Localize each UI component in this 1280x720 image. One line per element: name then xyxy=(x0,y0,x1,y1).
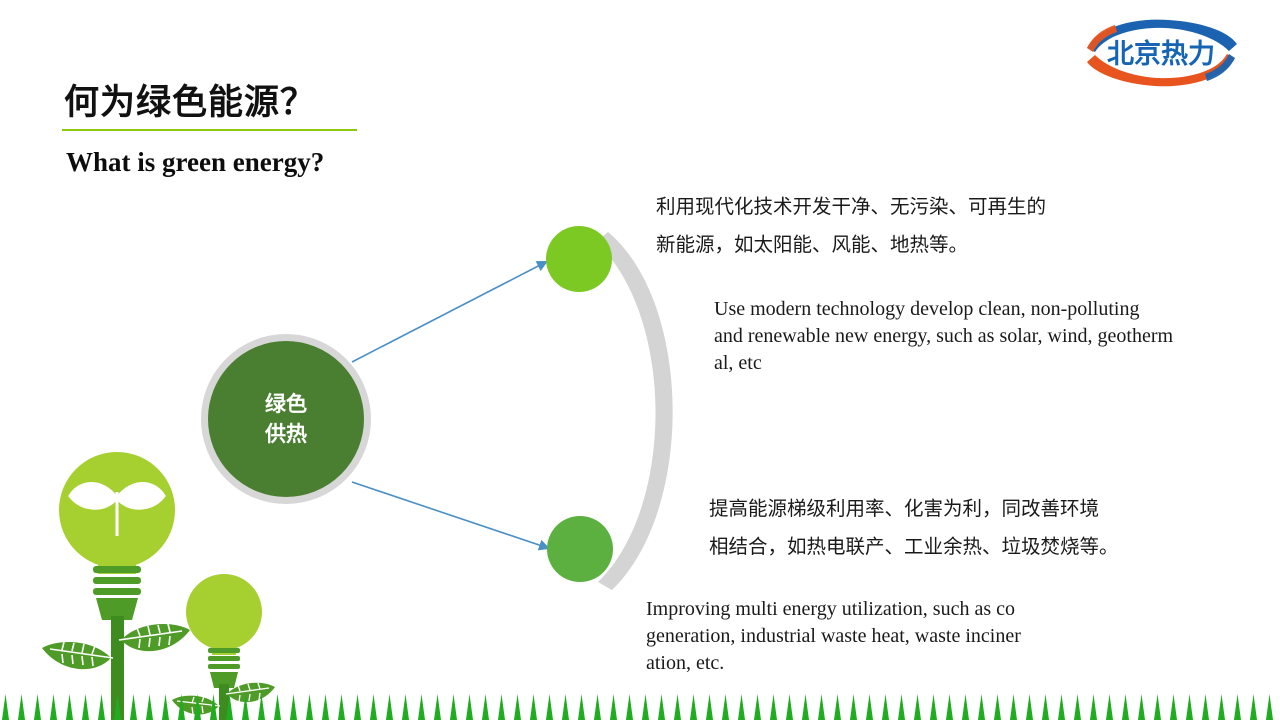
bulb-plant-illustration xyxy=(20,440,320,720)
page-title-en: What is green energy? xyxy=(66,147,324,178)
small-bulb-icon xyxy=(186,574,262,688)
arrow-to-node-top xyxy=(352,262,546,362)
logo-svg: 北京热力 xyxy=(1077,18,1245,88)
grass-strip xyxy=(0,688,1280,720)
branch-node-bottom[interactable] xyxy=(547,516,613,582)
branch-2-text-en: Improving multi energy utilization, such… xyxy=(646,596,1166,677)
beijing-thermal-power-logo: 北京热力 xyxy=(1077,18,1245,88)
title-divider xyxy=(62,129,357,131)
branch-node-top[interactable] xyxy=(546,226,612,292)
large-bulb-icon xyxy=(59,452,175,620)
arrow-to-node-bottom xyxy=(352,482,548,548)
hub-label-line1: 绿色 xyxy=(265,389,307,419)
slide-canvas: 北京热力 何为绿色能源？ What is green energy? 绿色 供热… xyxy=(0,0,1280,720)
branch-2-text-cn: 提高能源梯级利用率、化害为利，同改善环境 相结合，如热电联产、工业余热、垃圾焚烧… xyxy=(709,490,1189,566)
logo-text: 北京热力 xyxy=(1107,38,1215,70)
branch-1-text-cn: 利用现代化技术开发干净、无污染、可再生的 新能源，如太阳能、风能、地热等。 xyxy=(656,188,1126,264)
page-title-cn: 何为绿色能源？ xyxy=(64,74,316,125)
branch-1-text-en: Use modern technology develop clean, non… xyxy=(714,296,1280,377)
